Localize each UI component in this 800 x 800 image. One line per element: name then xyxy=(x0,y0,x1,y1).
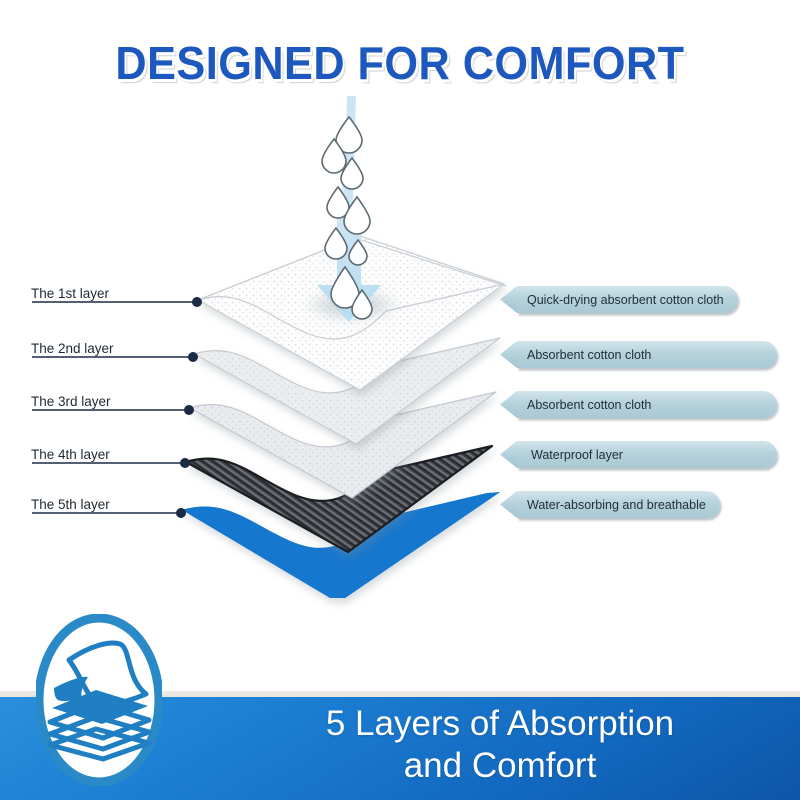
callout-arrow-icon xyxy=(500,491,517,518)
banner-line-1: 5 Layers of Absorption xyxy=(210,703,790,745)
stacked-sheets-icon xyxy=(36,614,162,786)
callout-text-4: Waterproof layer xyxy=(517,441,777,468)
layer-label-5: The 5th layer xyxy=(31,497,110,512)
callout-text-1: Quick-drying absorbent cotton cloth xyxy=(517,286,738,313)
callout-arrow-icon xyxy=(500,341,517,368)
callout-arrow-icon xyxy=(500,286,517,313)
layer-label-3: The 3rd layer xyxy=(31,394,111,409)
layer-label-4: The 4th layer xyxy=(31,447,110,462)
layer-callout-2: Absorbent cotton cloth xyxy=(500,341,777,368)
layer-callout-3: Absorbent cotton cloth xyxy=(500,391,777,418)
layer-callout-4: Waterproof layer xyxy=(500,441,777,468)
callout-text-2: Absorbent cotton cloth xyxy=(517,341,777,368)
layer-label-2: The 2nd layer xyxy=(31,341,114,356)
callout-text-5: Water-absorbing and breathable xyxy=(517,491,720,518)
callout-arrow-icon xyxy=(500,441,517,468)
callout-text-3: Absorbent cotton cloth xyxy=(517,391,777,418)
layer-label-1: The 1st layer xyxy=(31,286,109,301)
layer-callout-1: Quick-drying absorbent cotton cloth xyxy=(500,286,738,313)
banner-headline: 5 Layers of Absorption and Comfort xyxy=(210,703,790,787)
callout-arrow-icon xyxy=(500,391,517,418)
infographic-canvas: DESIGNED FOR COMFORT xyxy=(0,0,800,800)
banner-line-2: and Comfort xyxy=(210,745,790,787)
layer-callout-5: Water-absorbing and breathable xyxy=(500,491,720,518)
